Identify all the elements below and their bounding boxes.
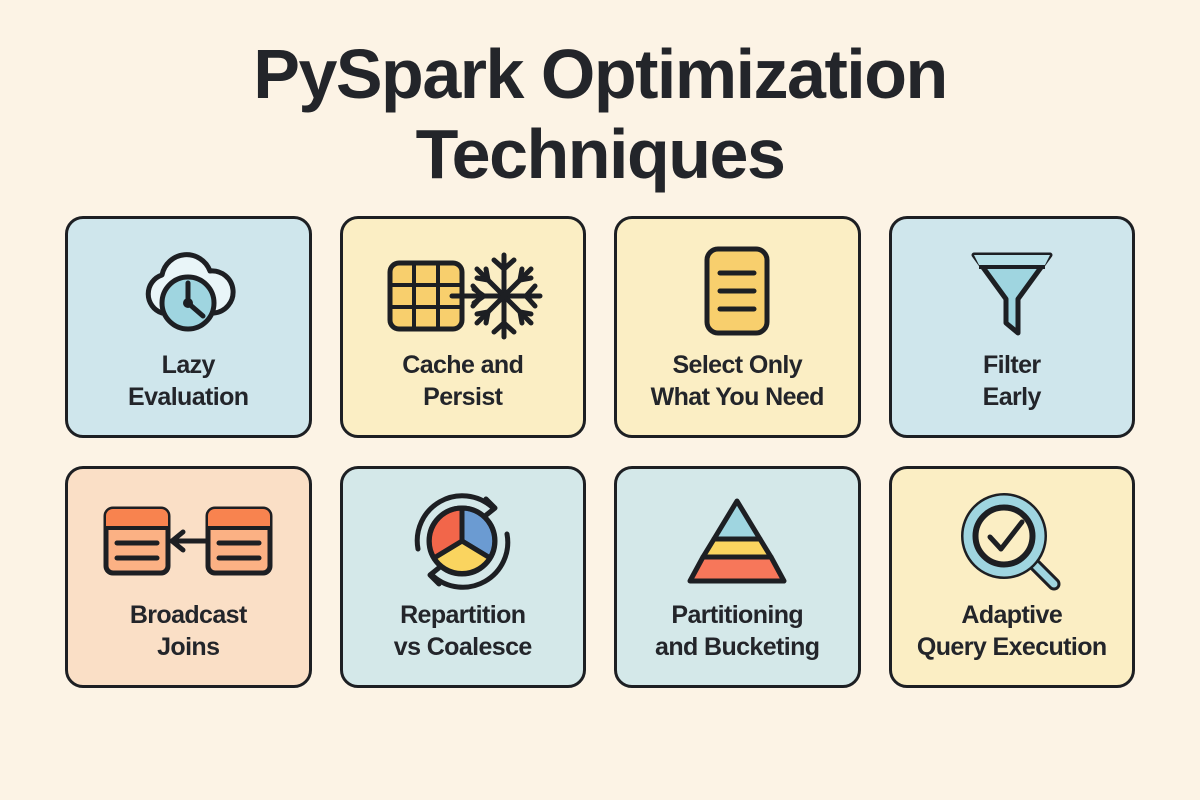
label-line-2: Query Execution bbox=[898, 631, 1127, 663]
label-line-2: and Bucketing bbox=[623, 631, 852, 663]
label-line-1: Select Only bbox=[672, 351, 802, 379]
two-tables-arrow-icon bbox=[68, 487, 309, 595]
card-label-select-only-what-you-need: Select Only What You Need bbox=[617, 349, 858, 413]
left-arrow-icon bbox=[172, 532, 206, 550]
label-line-1: Lazy bbox=[162, 351, 215, 379]
infographic-page: PySpark Optimization Techniques Lazy Eva… bbox=[0, 0, 1200, 800]
card-label-lazy-evaluation: Lazy Evaluation bbox=[68, 349, 309, 413]
card-label-broadcast-joins: Broadcast Joins bbox=[68, 599, 309, 663]
card-cache-and-persist[interactable]: Cache and Persist bbox=[340, 216, 587, 438]
card-label-filter-early: Filter Early bbox=[892, 349, 1133, 413]
label-line-2: Evaluation bbox=[74, 381, 303, 413]
grid-snowflake-icon bbox=[343, 237, 584, 345]
title-line-2: Techniques bbox=[70, 114, 1130, 194]
label-line-1: Filter bbox=[983, 351, 1041, 379]
card-lazy-evaluation[interactable]: Lazy Evaluation bbox=[65, 216, 312, 438]
card-broadcast-joins[interactable]: Broadcast Joins bbox=[65, 466, 312, 688]
card-label-repartition-vs-coalesce: Repartition vs Coalesce bbox=[343, 599, 584, 663]
technique-card-grid: Lazy Evaluation bbox=[65, 216, 1135, 688]
card-adaptive-query-execution[interactable]: Adaptive Query Execution bbox=[889, 466, 1136, 688]
card-label-adaptive-query-execution: Adaptive Query Execution bbox=[892, 599, 1133, 663]
pie-refresh-icon bbox=[343, 487, 584, 595]
card-label-partitioning-and-bucketing: Partitioning and Bucketing bbox=[617, 599, 858, 663]
label-line-2: Persist bbox=[349, 381, 578, 413]
card-partitioning-and-bucketing[interactable]: Partitioning and Bucketing bbox=[614, 466, 861, 688]
card-filter-early[interactable]: Filter Early bbox=[889, 216, 1136, 438]
layered-pyramid-icon bbox=[617, 487, 858, 595]
label-line-2: vs Coalesce bbox=[349, 631, 578, 663]
document-lines-icon bbox=[617, 237, 858, 345]
funnel-icon bbox=[892, 237, 1133, 345]
title-line-1: PySpark Optimization bbox=[70, 34, 1130, 114]
table-left bbox=[106, 509, 168, 573]
cloud-clock-icon bbox=[68, 237, 309, 345]
label-line-2: Joins bbox=[74, 631, 303, 663]
label-line-2: What You Need bbox=[623, 381, 852, 413]
table-right bbox=[208, 509, 270, 573]
magnifier-check-icon bbox=[892, 487, 1133, 595]
label-line-1: Repartition bbox=[400, 601, 525, 629]
card-select-only-what-you-need[interactable]: Select Only What You Need bbox=[614, 216, 861, 438]
label-line-2: Early bbox=[898, 381, 1127, 413]
snowflake-part bbox=[468, 255, 540, 337]
label-line-1: Broadcast bbox=[130, 601, 247, 629]
card-label-cache-and-persist: Cache and Persist bbox=[343, 349, 584, 413]
page-title: PySpark Optimization Techniques bbox=[70, 34, 1130, 194]
pie-chart bbox=[429, 508, 495, 574]
label-line-1: Cache and bbox=[402, 351, 523, 379]
label-line-1: Partitioning bbox=[671, 601, 803, 629]
card-repartition-vs-coalesce[interactable]: Repartition vs Coalesce bbox=[340, 466, 587, 688]
label-line-1: Adaptive bbox=[961, 601, 1062, 629]
